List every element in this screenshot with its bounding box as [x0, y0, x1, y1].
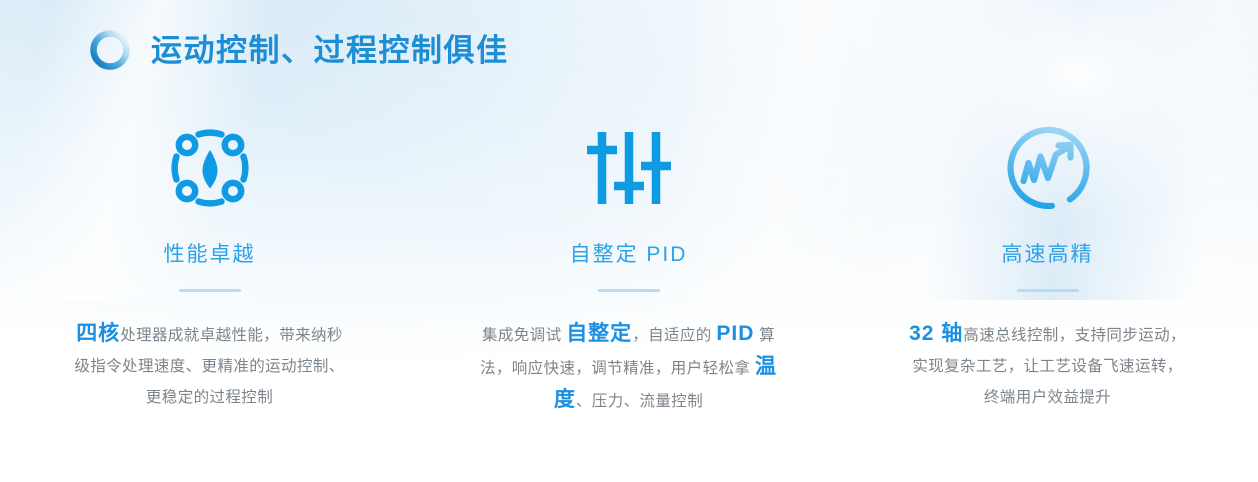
column-title: 性能卓越: [164, 244, 256, 265]
page-title: 运动控制、过程控制俱佳: [151, 35, 509, 66]
column-body: 32 轴高速总线控制，支持同步运动，实现复杂工艺，让工艺设备飞速运转，终端用户效…: [905, 318, 1190, 413]
body-highlight: PID: [716, 322, 754, 345]
column-title: 高速高精: [1002, 244, 1094, 265]
body-text: 、压力、流量控制: [576, 393, 703, 410]
column-body: 集成免调试 自整定，自适应的 PID 算法，响应快速，调节精准，用户轻松拿 温度…: [479, 318, 779, 417]
body-highlight: 32 轴: [909, 322, 963, 345]
quad-core-processor-icon: [167, 118, 253, 218]
equalizer-sliders-icon: [583, 118, 675, 218]
column-title: 自整定 PID: [570, 244, 688, 265]
feature-banner: 运动控制、过程控制俱佳: [0, 0, 1258, 482]
title-divider: [1017, 289, 1079, 292]
feature-column-performance: 性能卓越 四核处理器成就卓越性能，带来纳秒级指令处理速度、更精准的运动控制、更稳…: [0, 118, 419, 417]
feature-column-speed: 高速高精 32 轴高速总线控制，支持同步运动，实现复杂工艺，让工艺设备飞速运转，…: [838, 118, 1257, 417]
title-divider: [179, 289, 241, 292]
body-highlight: 自整定: [566, 322, 632, 345]
feature-columns: 性能卓越 四核处理器成就卓越性能，带来纳秒级指令处理速度、更精准的运动控制、更稳…: [0, 118, 1258, 417]
trending-up-chart-icon: [1003, 118, 1093, 218]
body-text: ，自适应的: [632, 327, 716, 344]
header: 运动控制、过程控制俱佳: [88, 28, 509, 72]
ring-icon: [88, 28, 132, 72]
feature-column-pid: 自整定 PID 集成免调试 自整定，自适应的 PID 算法，响应快速，调节精准，…: [419, 118, 838, 417]
body-text: 集成免调试: [482, 327, 566, 344]
column-body: 四核处理器成就卓越性能，带来纳秒级指令处理速度、更精准的运动控制、更稳定的过程控…: [74, 318, 346, 413]
body-highlight: 四核: [76, 322, 120, 345]
title-divider: [598, 289, 660, 292]
